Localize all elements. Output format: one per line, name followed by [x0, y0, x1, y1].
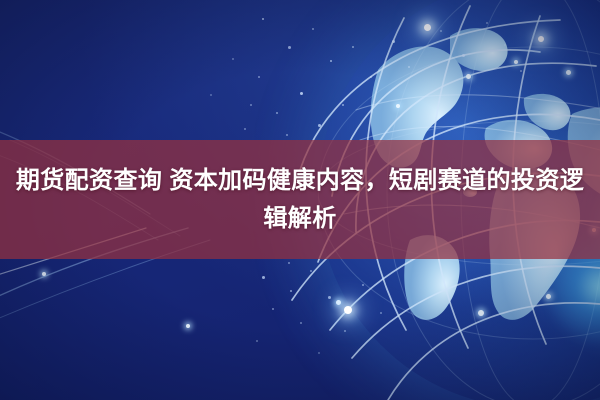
title-banner-band: 期货配资查询 资本加码健康内容，短剧赛道的投资逻辑解析 — [0, 140, 600, 259]
banner-image: 期货配资查询 资本加码健康内容，短剧赛道的投资逻辑解析 — [0, 0, 600, 400]
page-title: 期货配资查询 资本加码健康内容，短剧赛道的投资逻辑解析 — [2, 162, 598, 238]
